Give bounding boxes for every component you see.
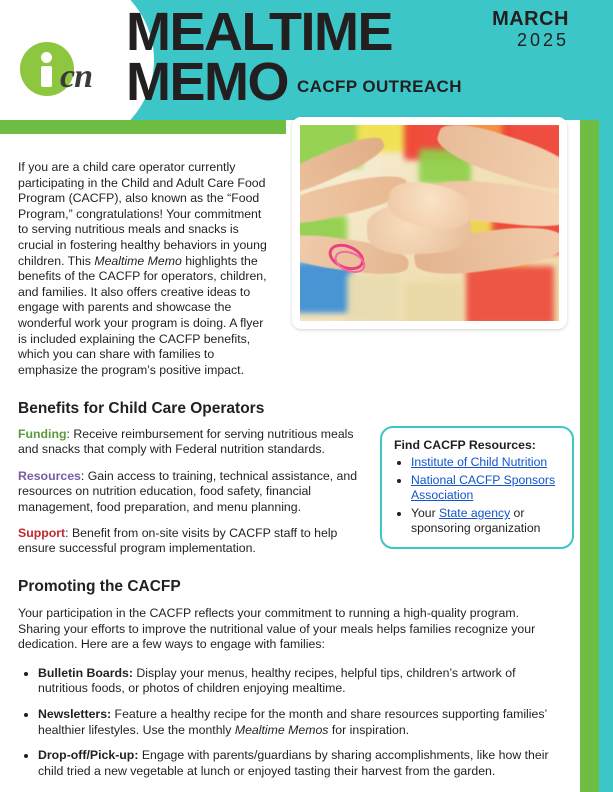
- list-item: Institute of Child Nutrition: [411, 455, 560, 470]
- benefits-heading: Benefits for Child Care Operators: [18, 400, 368, 418]
- benefit-sep-2: :: [65, 526, 72, 540]
- link-national-cacfp-sponsors-association[interactable]: National CACFP Sponsors Association: [411, 473, 555, 502]
- promoting-lead-drop-off-pick-up: Drop-off/Pick-up:: [38, 748, 138, 762]
- icn-logo: cn: [18, 40, 114, 102]
- benefit-lead-funding: Funding: [18, 427, 67, 441]
- promoting-heading: Promoting the CACFP: [18, 578, 561, 596]
- benefit-sep-1: :: [81, 469, 88, 483]
- logo-cn-text: cn: [60, 58, 92, 96]
- title-line-memo: MEMO: [126, 56, 288, 108]
- resources-list: Institute of Child Nutrition National CA…: [394, 455, 560, 536]
- intro-part1: If you are a child care operator current…: [18, 160, 267, 268]
- promoting-paragraph: Your participation in the CACFP reflects…: [18, 606, 561, 653]
- header-green-underbar: [0, 120, 286, 134]
- resources-box-title: Find CACFP Resources:: [394, 438, 560, 452]
- intro-part2: highlights the benefits of the CACFP for…: [18, 254, 267, 377]
- benefit-lead-support: Support: [18, 526, 65, 540]
- list-item: National CACFP Sponsors Association: [411, 473, 560, 503]
- page-header: cn MEALTIME MEMO CACFP OUTREACH MARCH 20…: [0, 0, 599, 120]
- promoting-lead-newsletters: Newsletters:: [38, 707, 111, 721]
- intro-italic-mealtime-memo: Mealtime Memo: [94, 254, 181, 268]
- mealtime-memo-page: cn MEALTIME MEMO CACFP OUTREACH MARCH 20…: [0, 0, 613, 792]
- title-line-mealtime: MEALTIME: [126, 8, 462, 56]
- promoting-list: Bulletin Boards: Display your menus, hea…: [18, 666, 561, 780]
- list-item: Drop-off/Pick-up: Engage with parents/gu…: [38, 748, 561, 779]
- issue-month: MARCH: [492, 9, 569, 30]
- promoting-italic-mealtime-memos: Mealtime Memos: [235, 723, 329, 737]
- masthead-title: MEALTIME MEMO CACFP OUTREACH: [126, 8, 462, 108]
- masthead-subtitle: CACFP OUTREACH: [297, 77, 462, 97]
- benefit-item-support: Support: Benefit from on-site visits by …: [18, 526, 368, 557]
- list-item: Your State agency or sponsoring organiza…: [411, 506, 560, 536]
- link-institute-of-child-nutrition[interactable]: Institute of Child Nutrition: [411, 455, 547, 469]
- right-edge-green-stripe: [580, 118, 599, 792]
- link-state-agency[interactable]: State agency: [439, 506, 510, 520]
- benefits-section: Benefits for Child Care Operators Fundin…: [18, 400, 368, 568]
- benefit-item-resources: Resources: Gain access to training, tech…: [18, 469, 368, 515]
- intro-paragraph: If you are a child care operator current…: [18, 160, 272, 378]
- promoting-lead-bulletin-boards: Bulletin Boards:: [38, 666, 133, 680]
- promoting-tail-newsletters: for inspiration.: [328, 723, 409, 737]
- benefit-lead-resources: Resources: [18, 469, 81, 483]
- hero-photo-frame: [292, 117, 567, 329]
- logo-i-dot-icon: [41, 52, 52, 63]
- issue-date: MARCH 2025: [492, 9, 569, 51]
- right-edge-teal-stripe: [599, 0, 613, 792]
- hero-photo-children-hands: [300, 125, 559, 321]
- find-cacfp-resources-box: Find CACFP Resources: Institute of Child…: [380, 426, 574, 549]
- promoting-section: Promoting the CACFP Your participation i…: [18, 578, 561, 789]
- list-item: Bulletin Boards: Display your menus, hea…: [38, 666, 561, 697]
- list-item: Newsletters: Feature a healthy recipe fo…: [38, 707, 561, 738]
- logo-i-stem-icon: [41, 66, 52, 87]
- state-agency-prefix: Your: [411, 506, 439, 520]
- benefit-item-funding: Funding: Receive reimbursement for servi…: [18, 427, 368, 458]
- issue-year: 2025: [492, 30, 569, 51]
